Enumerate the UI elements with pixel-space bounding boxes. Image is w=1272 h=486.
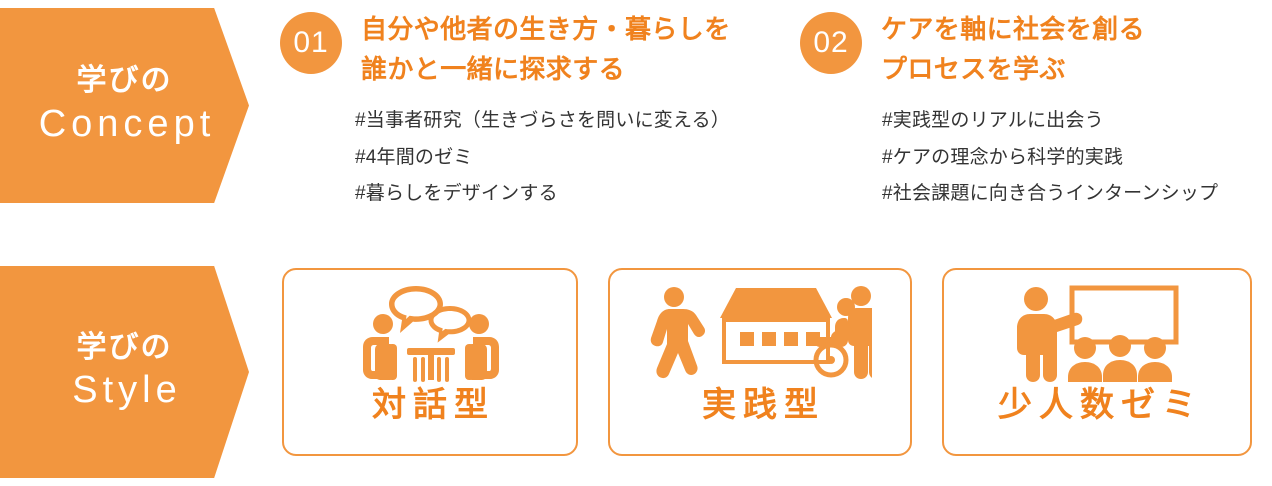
style-card-dialogue[interactable]: 対話型	[282, 268, 578, 456]
style-card-label: 実践型	[695, 388, 825, 422]
concept-title-line2: 誰かと一緒に探求する	[361, 49, 731, 89]
list-item: #4年間のゼミ	[355, 140, 780, 176]
concept-title: 自分や他者の生き方・暮らしを 誰かと一緒に探求する	[361, 8, 731, 89]
concept-tag-list: #実践型のリアルに出会う #ケアの理念から科学的実践 #社会課題に向き合うインタ…	[882, 103, 1270, 212]
concept-item-01: 01 自分や他者の生き方・暮らしを 誰かと一緒に探求する #当事者研究（生きづら…	[280, 8, 780, 212]
concept-title-line2: プロセスを学ぶ	[881, 49, 1145, 89]
concept-number-badge: 02	[800, 12, 862, 74]
style-card-practice[interactable]: 実践型	[608, 268, 912, 456]
banner-concept-line1: 学びの	[77, 62, 173, 100]
list-item: #社会課題に向き合うインターンシップ	[882, 176, 1270, 212]
concept-header: 02 ケアを軸に社会を創る プロセスを学ぶ	[800, 8, 1270, 89]
concept-header: 01 自分や他者の生き方・暮らしを 誰かと一緒に探求する	[280, 8, 780, 89]
concept-item-02: 02 ケアを軸に社会を創る プロセスを学ぶ #実践型のリアルに出会う #ケアの理…	[800, 8, 1270, 212]
seminar-whiteboard-icon	[1012, 282, 1182, 386]
banner-concept-line2: Concept	[34, 100, 216, 149]
list-item: #暮らしをデザインする	[355, 176, 780, 212]
concept-tag-list: #当事者研究（生きづらさを問いに変える） #4年間のゼミ #暮らしをデザインする	[355, 103, 780, 212]
style-card-label: 少人数ゼミ	[991, 388, 1203, 422]
concept-title-line1: ケアを軸に社会を創る	[881, 9, 1145, 49]
style-card-label: 対話型	[365, 388, 495, 422]
banner-style-line2: Style	[67, 366, 181, 415]
style-card-seminar[interactable]: 少人数ゼミ	[942, 268, 1252, 456]
discussion-table-icon	[355, 282, 505, 386]
banner-concept: 学びの Concept	[0, 8, 249, 203]
concept-title-line1: 自分や他者の生き方・暮らしを	[361, 9, 731, 49]
concept-number-badge: 01	[280, 12, 342, 74]
banner-style: 学びの Style	[0, 266, 249, 478]
list-item: #ケアの理念から科学的実践	[882, 140, 1270, 176]
community-building-icon	[648, 282, 872, 386]
concept-title: ケアを軸に社会を創る プロセスを学ぶ	[881, 8, 1145, 89]
list-item: #実践型のリアルに出会う	[882, 103, 1270, 139]
banner-style-line1: 学びの	[77, 329, 173, 367]
list-item: #当事者研究（生きづらさを問いに変える）	[355, 103, 780, 139]
